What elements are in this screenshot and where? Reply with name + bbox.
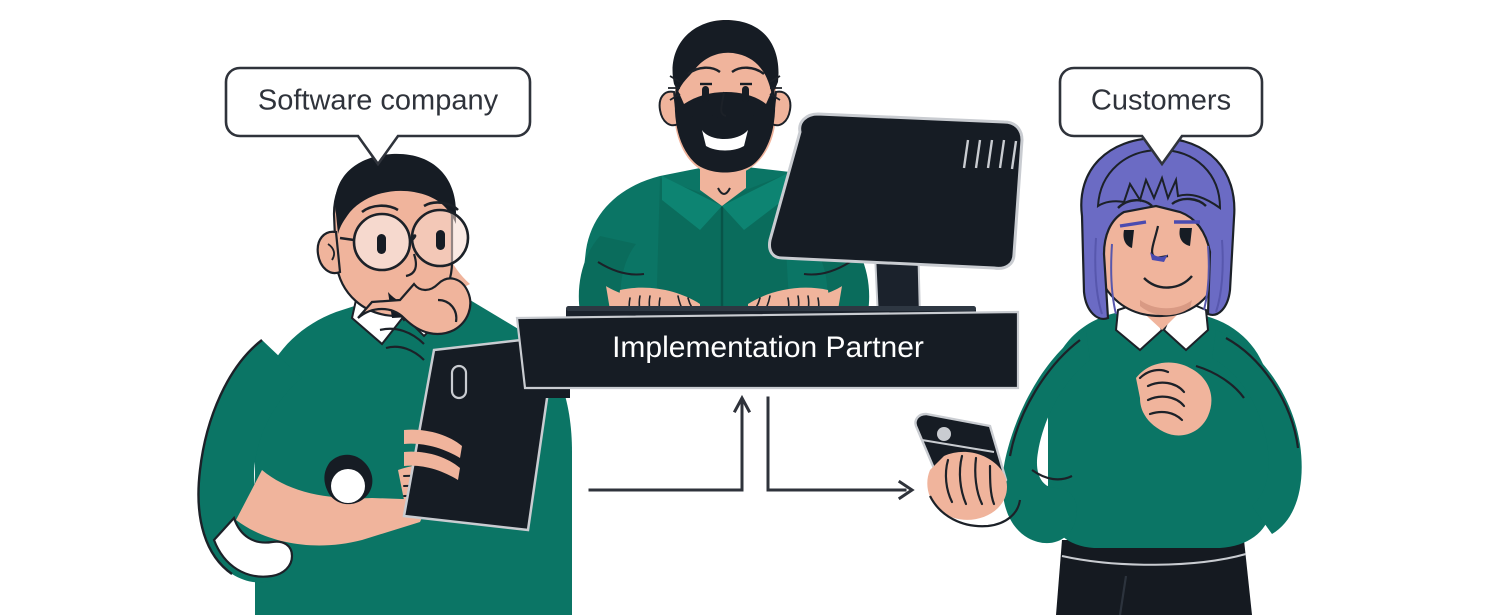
monitor-screen (770, 114, 1023, 268)
bubble-left-label: Software company (258, 85, 499, 117)
center-eye-left (702, 86, 709, 102)
illustration-canvas: Implementation Partner (0, 0, 1500, 615)
left-eye-left (377, 234, 386, 254)
counter-bar: Implementation Partner (490, 312, 1018, 398)
center-eye-right (742, 86, 749, 102)
process-illustration: Implementation Partner (0, 0, 1500, 615)
left-eye-right (436, 230, 445, 250)
right-trousers (1056, 540, 1252, 615)
bubble-right-label: Customers (1091, 85, 1231, 117)
counter-sign-label: Implementation Partner (612, 331, 924, 364)
